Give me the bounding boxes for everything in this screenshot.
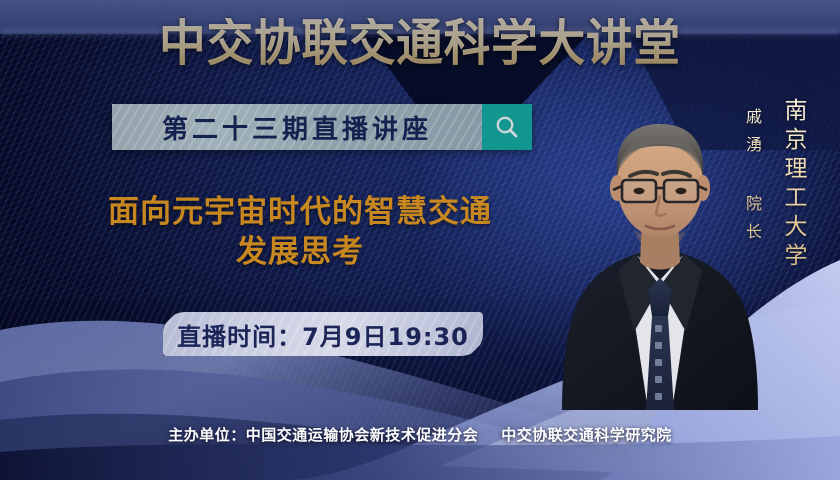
headline-line-2: 发展思考: [40, 232, 560, 272]
session-banner-label: 第二十三期直播讲座: [162, 109, 432, 146]
live-time-badge: 直播时间：7月9日19:30: [163, 312, 483, 356]
headline-line-1: 面向元宇宙时代的智慧交通: [40, 192, 560, 232]
speaker-name-title: 戚湧 院长: [740, 108, 764, 251]
session-banner[interactable]: 第二十三期直播讲座: [112, 104, 532, 150]
organizer-label: 主办单位：: [168, 426, 246, 444]
poster-title: 中交协联交通科学大讲堂: [29, 18, 810, 68]
organizer-footer: 主办单位：中国交通运输协会新技术促进分会 中交协联交通科学研究院: [0, 424, 840, 445]
live-time-text: 直播时间：7月9日19:30: [177, 317, 469, 352]
live-lecture-poster: 中交协联交通科学大讲堂 第二十三期直播讲座 面向元宇宙时代的智慧交通 发展思考 …: [0, 0, 840, 480]
speaker-portrait: [560, 80, 760, 410]
lecture-headline: 面向元宇宙时代的智慧交通 发展思考: [40, 192, 560, 273]
organizer-primary: 中国交通运输协会新技术促进分会: [246, 426, 479, 444]
organizer-gap: [478, 426, 501, 444]
organizer-secondary: 中交协联交通科学研究院: [501, 426, 672, 444]
session-banner-body: 第二十三期直播讲座: [112, 104, 482, 150]
search-icon[interactable]: [482, 104, 532, 150]
speaker-organization: 南京理工大学: [776, 98, 810, 272]
